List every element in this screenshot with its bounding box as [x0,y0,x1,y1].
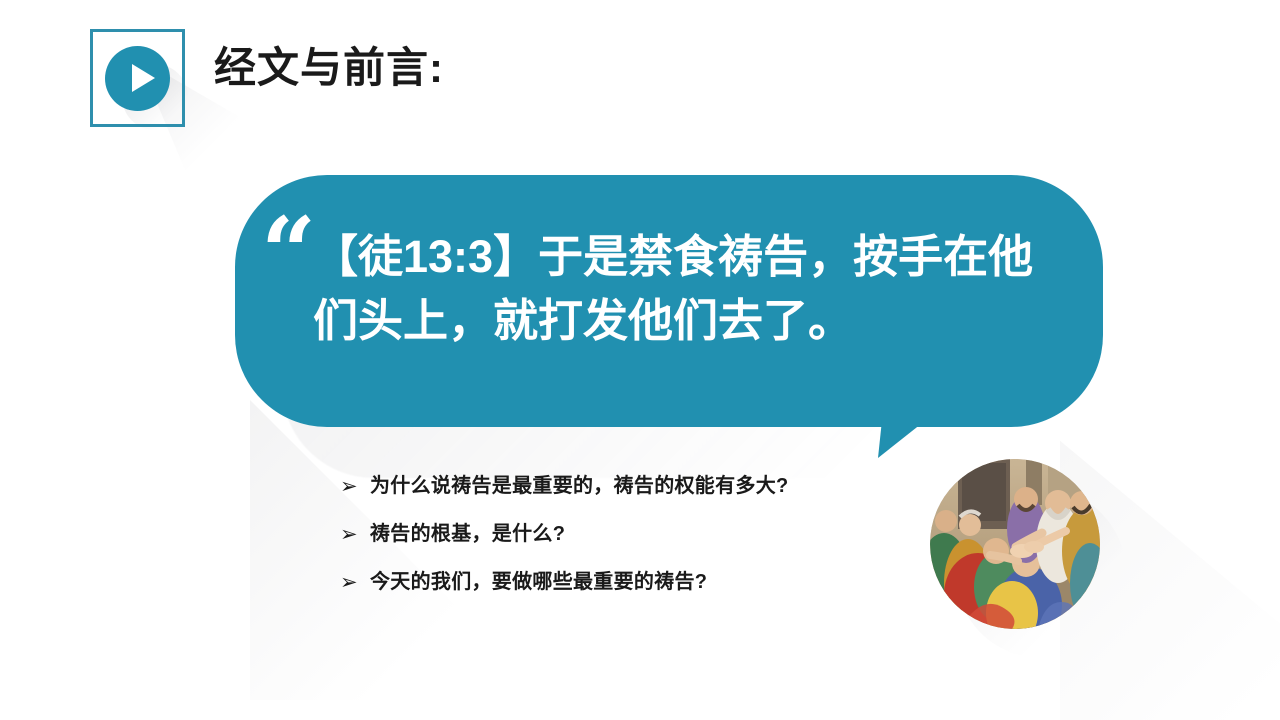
play-button-icon[interactable] [105,46,170,111]
list-item-label: 祷告的根基，是什么? [370,521,565,548]
slide-canvas: 经文与前言: “ 【徒13:3】于是禁食祷告，按手在他们头上，就打发他们去了。 … [0,0,1280,720]
quote-text: 【徒13:3】于是禁食祷告，按手在他们头上，就打发他们去了。 [313,225,1073,353]
list-item[interactable]: ➢ 今天的我们，要做哪些最重要的祷告? [340,569,930,596]
arrow-bullet-icon: ➢ [340,473,370,500]
quote-bubble-tail [878,420,926,458]
play-triangle-glyph [132,64,155,92]
arrow-bullet-icon: ➢ [340,569,370,596]
list-item[interactable]: ➢ 为什么说祷告是最重要的，祷告的权能有多大? [340,473,930,500]
list-item-label: 今天的我们，要做哪些最重要的祷告? [370,569,707,596]
arrow-bullet-icon: ➢ [340,521,370,548]
laying-on-of-hands-painting [930,459,1100,629]
list-item[interactable]: ➢ 祷告的根基，是什么? [340,521,930,548]
page-title: 经文与前言: [214,47,444,89]
painting-artwork [930,459,1100,629]
list-item-label: 为什么说祷告是最重要的，祷告的权能有多大? [370,473,789,500]
quote-bubble: “ 【徒13:3】于是禁食祷告，按手在他们头上，就打发他们去了。 [235,175,1103,427]
question-list: ➢ 为什么说祷告是最重要的，祷告的权能有多大? ➢ 祷告的根基，是什么? ➢ 今… [340,473,930,617]
slide-header: 经文与前言: [0,0,1280,150]
quote-mark-icon: “ [261,205,316,301]
